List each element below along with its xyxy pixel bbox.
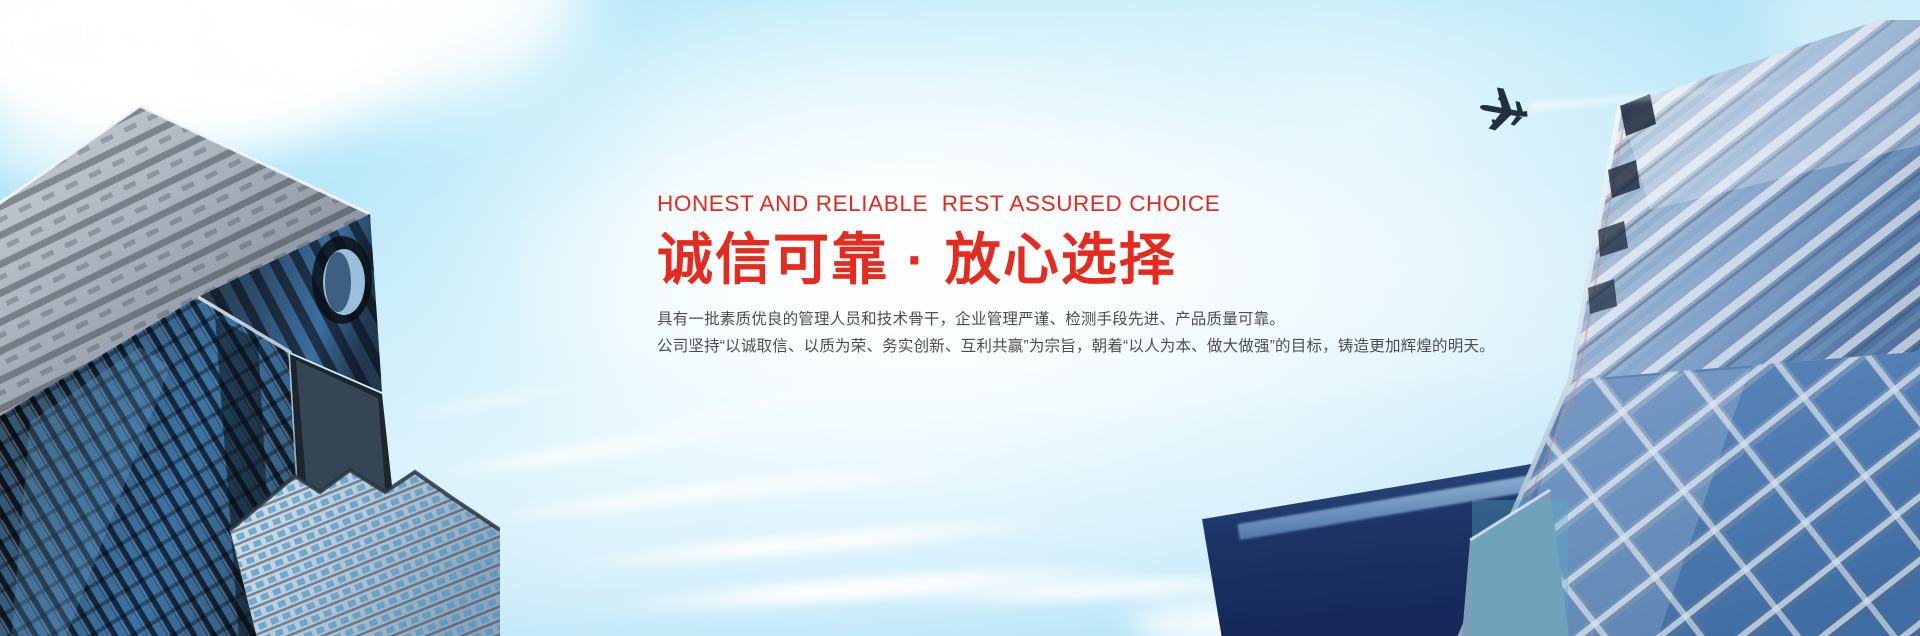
hero-banner: HONEST AND RELIABLE REST ASSURED CHOICE … (0, 0, 1920, 636)
banner-headline: 诚信可靠 · 放心选择 (657, 229, 1487, 292)
left-secondary-building (200, 380, 500, 636)
banner-body-line-2: 公司坚持“以诚取信、以质为荣、务实创新、互利共赢”为宗旨，朝着“以人为本、做大做… (657, 334, 1487, 361)
banner-eyebrow: HONEST AND RELIABLE REST ASSURED CHOICE (657, 192, 1487, 217)
banner-body-line-1: 具有一批素质优良的管理人员和技术骨干，企业管理严谨、检测手段先进、产品质量可靠。 (657, 307, 1487, 334)
banner-copy: HONEST AND RELIABLE REST ASSURED CHOICE … (657, 192, 1487, 361)
banner-body: 具有一批素质优良的管理人员和技术骨干，企业管理严谨、检测手段先进、产品质量可靠。… (657, 307, 1487, 360)
